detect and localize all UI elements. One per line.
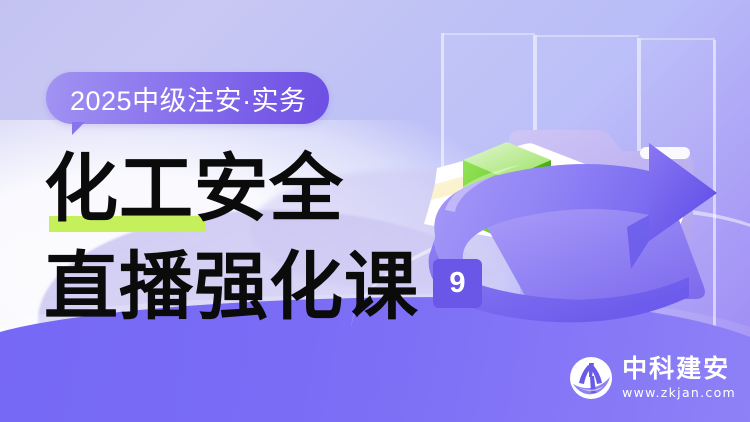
folder-front xyxy=(473,192,705,299)
episode-number-badge: 9 xyxy=(433,259,482,308)
logo-text-block: 中科建安 www.zkjan.com xyxy=(622,356,736,399)
logo-website-url: www.zkjan.com xyxy=(622,385,736,400)
folder-back xyxy=(509,130,693,247)
headline-line-1: 化工安全 xyxy=(44,152,482,226)
brand-logo: 中科建安 www.zkjan.com xyxy=(569,356,736,400)
headline-block: 化工安全 直播强化课 9 xyxy=(44,152,482,324)
course-category-label: 2025中级注安·实务 xyxy=(46,72,329,124)
headline-line-2: 直播强化课 9 xyxy=(44,250,482,324)
course-category-pill: 2025中级注安·实务 xyxy=(46,72,329,124)
course-banner: 2025中级注安·实务 化工安全 直播强化课 9 中科建安 www.zkjan.… xyxy=(0,0,750,422)
logo-company-name: 中科建安 xyxy=(622,356,736,382)
headline-line-2-text: 直播强化课 xyxy=(44,250,419,324)
zkjan-circle-logo-icon xyxy=(569,356,613,400)
pill-tail-icon xyxy=(72,122,85,135)
headline-line-1-text: 化工安全 xyxy=(44,146,344,232)
